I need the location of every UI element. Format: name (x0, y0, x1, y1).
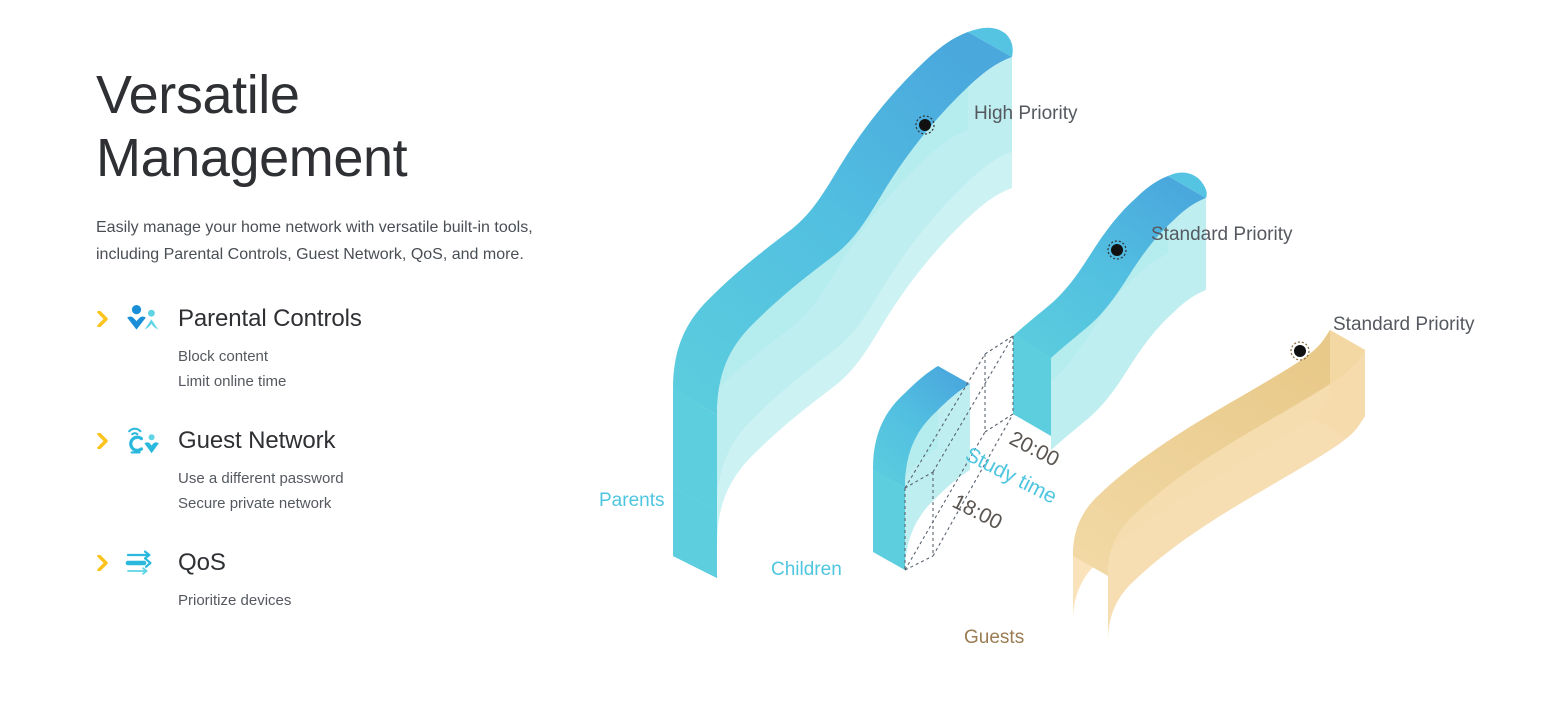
row-label-guests: Guests (964, 627, 1024, 649)
priority-label-guests: Standard Priority (1333, 314, 1475, 336)
feature-item-qos[interactable]: QoS Prioritize devices (96, 543, 566, 614)
priority-label-children: Standard Priority (1151, 224, 1293, 246)
feature-header[interactable]: Guest Network (96, 421, 566, 461)
versatile-management-section: Versatile Management Easily manage your … (0, 0, 1563, 704)
row-label-children: Children (771, 559, 842, 581)
feature-title: Parental Controls (178, 305, 362, 333)
chevron-right-icon (96, 554, 110, 572)
parental-controls-icon (124, 303, 162, 335)
feature-header[interactable]: QoS (96, 543, 566, 583)
chevron-right-icon (96, 310, 110, 328)
priority-label-parents: High Priority (974, 103, 1077, 125)
feature-item-guest-network[interactable]: Guest Network Use a different password S… (96, 421, 566, 517)
feature-item-parental-controls[interactable]: Parental Controls Block content Limit on… (96, 299, 566, 395)
feature-list: Parental Controls Block content Limit on… (96, 299, 566, 613)
page-title: Versatile Management (96, 64, 566, 189)
qos-icon (124, 547, 162, 579)
page-subtitle: Easily manage your home network with ver… (96, 215, 546, 269)
feature-title: Guest Network (178, 427, 335, 455)
feature-header[interactable]: Parental Controls (96, 299, 566, 339)
chevron-right-icon (96, 432, 110, 450)
left-content-panel: Versatile Management Easily manage your … (96, 64, 566, 639)
row-label-parents: Parents (599, 490, 664, 512)
feature-title: QoS (178, 549, 226, 577)
guest-network-icon (124, 425, 162, 457)
isometric-bandwidth-chart: High Priority Standard Priority Standard… (500, 0, 1563, 704)
